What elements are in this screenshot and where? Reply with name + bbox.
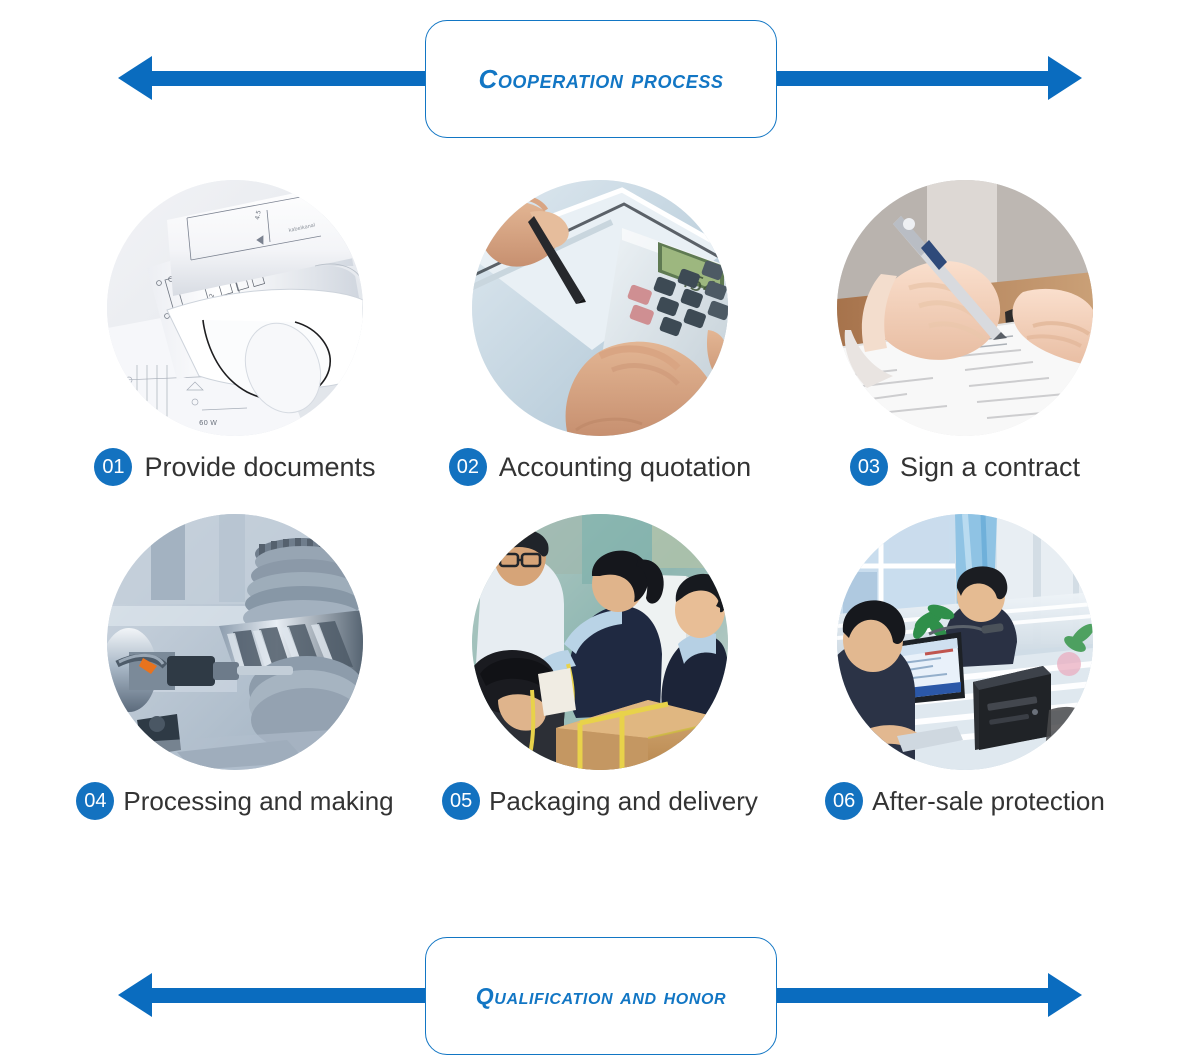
step-number-badge: 05: [442, 782, 480, 820]
step-number-badge: 06: [825, 782, 863, 820]
arrow-right-icon: [1048, 56, 1082, 100]
cnc-machining-photo: [107, 514, 363, 770]
top-banner: Cooperation process: [0, 8, 1200, 138]
arrow-right-bar: [777, 988, 1062, 1003]
step-card-01[interactable]: 60 W PE: [60, 180, 410, 486]
step-card-05[interactable]: 05 Packaging and delivery: [425, 514, 775, 820]
arrow-left-bar: [140, 71, 425, 86]
calculator-hands-photo: 454: [472, 180, 728, 436]
step-label: Processing and making: [123, 788, 393, 814]
step-card-02[interactable]: 454: [425, 180, 775, 486]
step-label: Accounting quotation: [499, 454, 751, 481]
step-caption-03: 03 Sign a contract: [850, 448, 1080, 486]
step-card-03[interactable]: 03 Sign a contract: [790, 180, 1140, 486]
cooperation-process-infographic: Cooperation process: [0, 0, 1200, 1056]
arrow-right-icon: [1048, 973, 1082, 1017]
step-number-badge: 02: [449, 448, 487, 486]
rolled-blueprints-photo: 60 W PE: [107, 180, 363, 436]
top-banner-box: Cooperation process: [425, 20, 777, 138]
svg-text:60 W: 60 W: [199, 419, 217, 427]
step-caption-05: 05 Packaging and delivery: [442, 782, 758, 820]
step-label: Provide documents: [144, 454, 375, 481]
steps-row-1: 60 W PE: [0, 180, 1200, 486]
step-label: Sign a contract: [900, 454, 1080, 481]
bottom-banner-title: Qualification and honor: [476, 983, 726, 1010]
step-number-badge: 01: [94, 448, 132, 486]
step-number-badge: 04: [76, 782, 114, 820]
arrow-left-bar: [140, 988, 425, 1003]
packaging-workers-photo: [472, 514, 728, 770]
step-caption-06: 06 After-sale protection: [825, 782, 1105, 820]
bottom-banner-box: Qualification and honor: [425, 937, 777, 1055]
steps-row-2: 04 Processing and making: [0, 514, 1200, 820]
step-card-06[interactable]: 06 After-sale protection: [790, 514, 1140, 820]
step-number-badge: 03: [850, 448, 888, 486]
step-caption-01: 01 Provide documents: [94, 448, 375, 486]
step-label: After-sale protection: [872, 788, 1105, 814]
top-banner-title: Cooperation process: [478, 64, 723, 95]
office-support-photo: [837, 514, 1093, 770]
step-label: Packaging and delivery: [489, 788, 758, 814]
step-caption-04: 04 Processing and making: [76, 782, 393, 820]
step-card-04[interactable]: 04 Processing and making: [60, 514, 410, 820]
arrow-right-bar: [777, 71, 1062, 86]
signing-contract-photo: [837, 180, 1093, 436]
step-caption-02: 02 Accounting quotation: [449, 448, 751, 486]
bottom-banner: Qualification and honor: [0, 925, 1200, 1055]
steps-grid: 60 W PE: [0, 180, 1200, 820]
